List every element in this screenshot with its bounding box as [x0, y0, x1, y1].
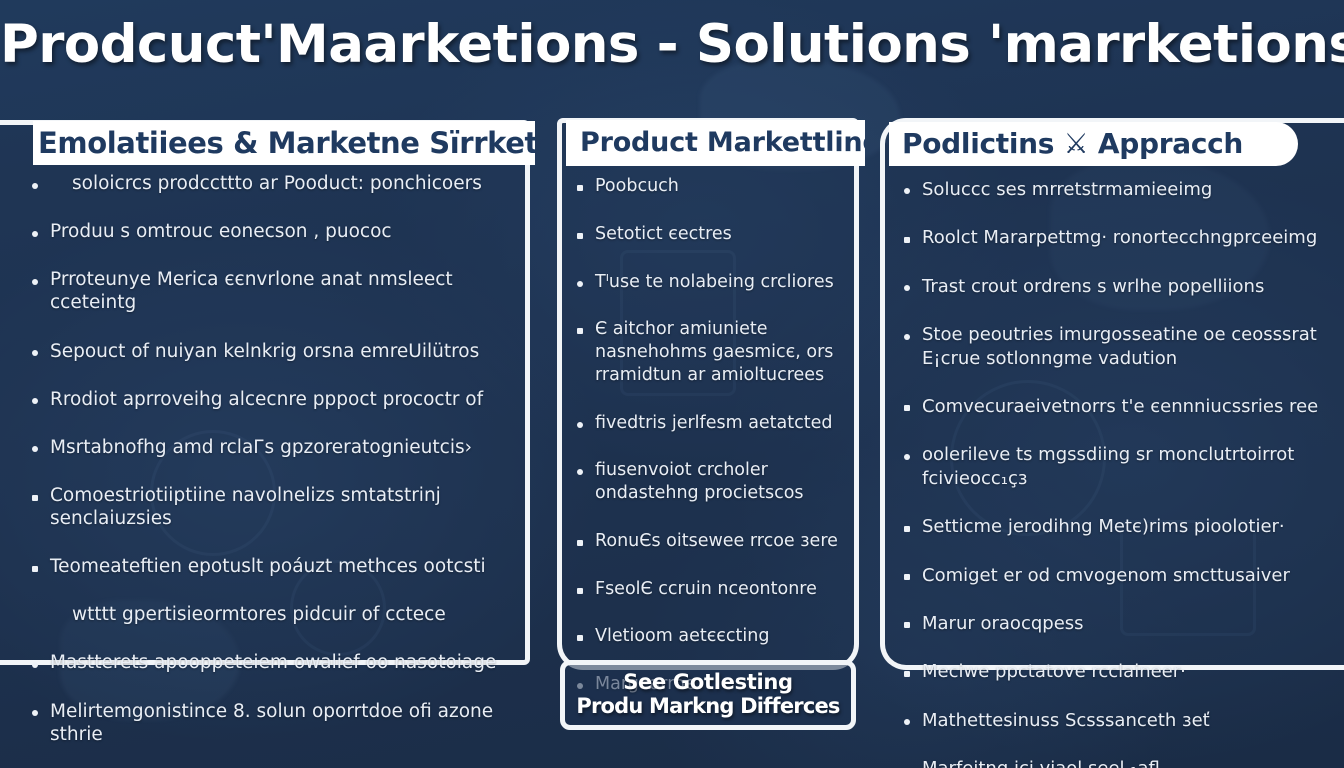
list-item: Poobcuch: [573, 175, 847, 198]
list-item-label: Soluccc ses mrretstrmamieeimg: [922, 179, 1212, 200]
list-item: Marfeitng iєi viaol seel ₁afl: [900, 757, 1336, 768]
list-item: FseolЄ ccruin nceontonre: [573, 578, 847, 601]
list-item: Tᴵuse te nolabeing crcliores: [573, 271, 847, 294]
list-item: Msrtabnofhg amd rclaГs gpzoreratognieutc…: [28, 436, 514, 459]
list-item: Mastterets apooppeteiem owalief oo nasot…: [28, 651, 514, 674]
list-item-label: fivedtris jerlfesm aetatcted: [595, 413, 833, 433]
list-item: Vletioom aetєєcting: [573, 625, 847, 648]
list-item: Roolct Mararpettmg· ronortecchngprceeimg: [900, 226, 1336, 249]
list-item: fivedtris jerlfesm aetatcted: [573, 412, 847, 435]
list-item-label: Comvecuraeivetnorrs t'e єennniucssries r…: [922, 396, 1318, 417]
list-item: Meciwe ppctatove rcclaineer·: [900, 660, 1336, 683]
list-item-label: Mathettesinuѕs Scѕssanceth зeť: [922, 710, 1210, 731]
list-item: soloicrcs prodccttto ar Pooduct: ponchic…: [28, 172, 514, 195]
list-item: Sepouct of nuiyan kelnkrig orsna emreUil…: [28, 340, 514, 363]
list-item: wtttt gpertisieormtores pidcuir of cctec…: [28, 603, 514, 626]
list-item-label: Melirtemgonistince 8. solun oporrtdoe of…: [50, 701, 493, 745]
list-item: Comiget er od cmvogenom ѕmcttusaiver: [900, 564, 1336, 587]
list-item-label: Sepouct of nuiyan kelnkrig orsna emreUil…: [50, 341, 479, 362]
list-item-label: soloicrcs prodccttto ar Pooduct: ponchic…: [72, 173, 482, 194]
list-item-label: Vletioom aetєєcting: [595, 626, 769, 646]
list-item: Comoestriotiiptiine navolnelizs smtatstr…: [28, 484, 514, 530]
list-item-label: Setticme jerodihng Metє)rims pioolotier·: [922, 516, 1285, 537]
list-item-label: FseolЄ ccruin nceontonre: [595, 579, 817, 599]
list-item-label: Rrodiot aprroveihg alcecnre pppoct proco…: [50, 389, 483, 410]
list-item-label: Marur oraocqpess: [922, 613, 1084, 634]
column-header-2: Product Markettling: [566, 120, 865, 166]
list-item-label: Poobcuch: [595, 176, 679, 196]
column-header-1: Emolatiiees & Marketne Sïrrketirg: [33, 121, 535, 165]
list-item: Teomeateftien epotuslt poáuzt methces oo…: [28, 555, 514, 578]
list-item: oolerileve ts mgssdiing sr monclutrtoirr…: [900, 443, 1336, 490]
list-item: Soluccc ses mrretstrmamieeimg: [900, 178, 1336, 201]
list-item: Є aitchor amiuniete nasnehohms gaesmicє,…: [573, 318, 847, 386]
list-item-label: Msrtabnofhg amd rclaГs gpzoreratognieutc…: [50, 437, 472, 458]
list-item-label: Marfeitng iєi viaol seel ₁afl: [922, 758, 1160, 768]
list-item-label: Produu s omtrouc eonecson , puococ: [50, 221, 392, 242]
list-item-label: Trast crout ordrens s wrlhe popelliions: [922, 276, 1264, 297]
list-item: Stoe peoutries imurgosѕeatine oe ceosssr…: [900, 323, 1336, 370]
column-header-3: Podlictins ⚔ Appracch: [889, 122, 1298, 166]
list-item: Marur oraocqpess: [900, 612, 1336, 635]
list-item: Setticme jerodihng Metє)rims pioolotier·: [900, 515, 1336, 538]
list-item: Mathettesinuѕs Scѕssanceth зeť: [900, 709, 1336, 732]
list-item: Rrodiot aprroveihg alcecnre pppoct proco…: [28, 388, 514, 411]
callout-line-1: See Gotlesting: [623, 671, 793, 695]
list-item-label: RonuЄs oitsewee rrcoe зere: [595, 531, 838, 551]
list-item: Melirtemgonistince 8. solun oporrtdoe of…: [28, 700, 514, 746]
list-item-label: Comiget er od cmvogenom ѕmcttusaiver: [922, 565, 1290, 586]
list-item: Setotict єectres: [573, 223, 847, 246]
list-item-label: Teomeateftien epotuslt poáuzt methces oo…: [50, 556, 486, 577]
callout-line-2: Produ Markng Differces: [576, 695, 839, 719]
list-item-label: Tᴵuse te nolabeing crcliores: [595, 272, 834, 292]
list-item: Trast crout ordrens s wrlhe popelliions: [900, 275, 1336, 298]
list-item-label: Roolct Mararpettmg· ronortecchngprceeimg: [922, 227, 1317, 248]
column-bullet-list-3: Soluccc ses mrretstrmamieeimgRoolct Mara…: [900, 178, 1336, 768]
list-item-label: oolerileve ts mgssdiing sr monclutrtoirr…: [922, 444, 1294, 488]
list-item: Comvecuraeivetnorrs t'e єennniucssries r…: [900, 395, 1336, 418]
column-bullet-list-2: PoobcuchSetotict єectresTᴵuse te nolabei…: [573, 175, 847, 721]
list-item-label: Є aitchor amiuniete nasnehohms gaesmicє,…: [595, 319, 833, 385]
callout-box[interactable]: See Gotlesting Produ Markng Differces: [560, 660, 856, 730]
slide-canvas: Prodcuct'Maarketions - Solutions 'marrke…: [0, 0, 1344, 768]
list-item-label: fiusenvoiot crcholer ondastehng prociets…: [595, 460, 804, 503]
list-item: fiusenvoiot crcholer ondastehng prociets…: [573, 459, 847, 505]
list-item-label: Setotict єectres: [595, 224, 732, 244]
list-item: RonuЄs oitsewee rrcoe зere: [573, 530, 847, 553]
list-item-label: Mastterets apooppeteiem owalief oo nasot…: [50, 652, 496, 673]
list-item: Prroteunye Merica єєnvrlone anat nmsleec…: [28, 268, 514, 314]
list-item-label: wtttt gpertisieormtores pidcuir of cctec…: [72, 604, 446, 625]
slide-title: Prodcuct'Maarketions - Solutions 'marrke…: [0, 14, 1344, 75]
list-item-label: Stoe peoutries imurgosѕeatine oe ceosssr…: [922, 324, 1317, 368]
column-bullet-list-1: soloicrcs prodccttto ar Pooduct: ponchic…: [28, 172, 514, 768]
list-item-label: Comoestriotiiptiine navolnelizs smtatstr…: [50, 485, 441, 529]
list-item: Produu s omtrouc eonecson , puococ: [28, 220, 514, 243]
list-item-label: Meciwe ppctatove rcclaineer·: [922, 661, 1186, 682]
list-item-label: Prroteunye Merica єєnvrlone anat nmsleec…: [50, 269, 453, 313]
